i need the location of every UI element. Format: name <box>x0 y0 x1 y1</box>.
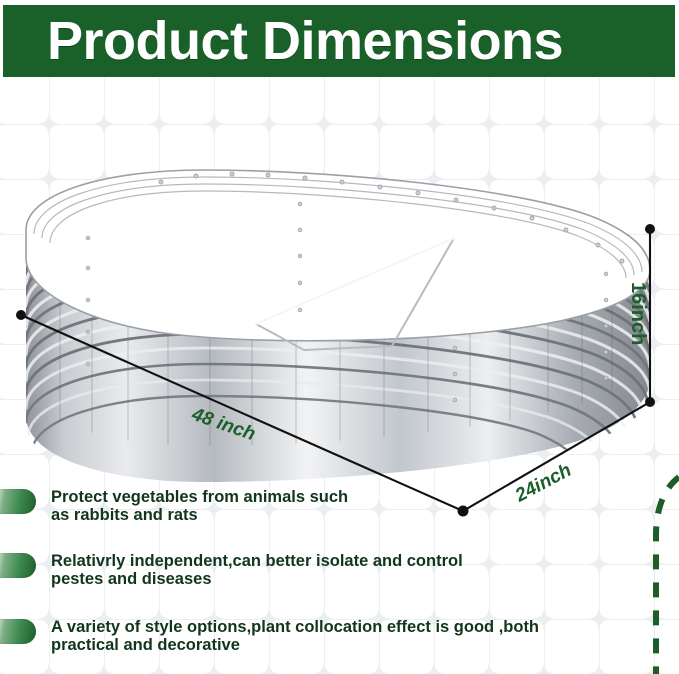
product-image <box>0 78 679 508</box>
header-banner: Product Dimensions <box>3 5 675 77</box>
feature-text: Protect vegetables from animals such as … <box>51 488 348 524</box>
page-title: Product Dimensions <box>47 14 563 68</box>
garden-bed-body <box>26 170 650 488</box>
pill-bullet-icon <box>0 489 36 514</box>
pill-bullet-icon <box>0 553 36 578</box>
dimension-label-height: 16inch <box>626 282 649 345</box>
feature-text: Relativrly independent,can better isolat… <box>51 552 463 588</box>
list-item: Protect vegetables from animals such as … <box>0 488 640 524</box>
feature-text: A variety of style options,plant colloca… <box>51 618 539 654</box>
pill-bullet-icon <box>0 619 36 644</box>
list-item: Relativrly independent,can better isolat… <box>0 552 640 588</box>
list-item: A variety of style options,plant colloca… <box>0 618 640 654</box>
features-list: Protect vegetables from animals such as … <box>0 480 679 674</box>
